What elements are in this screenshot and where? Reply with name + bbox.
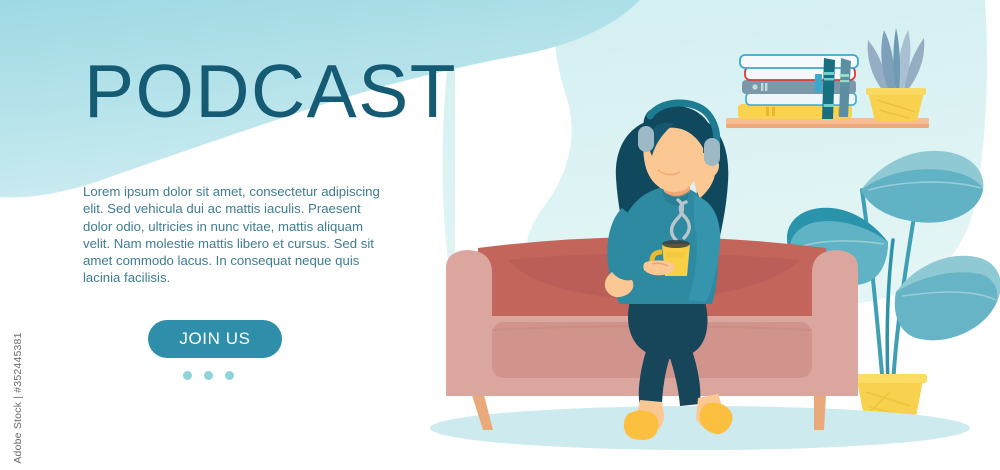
- carousel-dots[interactable]: [183, 371, 234, 380]
- stock-watermark: Adobe Stock | #352445381: [12, 328, 24, 468]
- body-paragraph: Lorem ipsum dolor sit amet, consectetur …: [83, 183, 383, 286]
- page-title: PODCAST: [84, 54, 457, 129]
- carousel-dot-1[interactable]: [183, 371, 192, 380]
- shoe-left: [624, 410, 659, 440]
- headphone-cup-left: [638, 126, 654, 152]
- carousel-dot-3[interactable]: [225, 371, 234, 380]
- sofa-leg-right: [814, 395, 826, 430]
- join-us-button[interactable]: JOIN US: [148, 320, 282, 358]
- headphone-cup-right: [704, 138, 720, 166]
- carousel-dot-2[interactable]: [204, 371, 213, 380]
- illustration-canvas: PODCAST Lorem ipsum dolor sit amet, cons…: [0, 0, 1000, 470]
